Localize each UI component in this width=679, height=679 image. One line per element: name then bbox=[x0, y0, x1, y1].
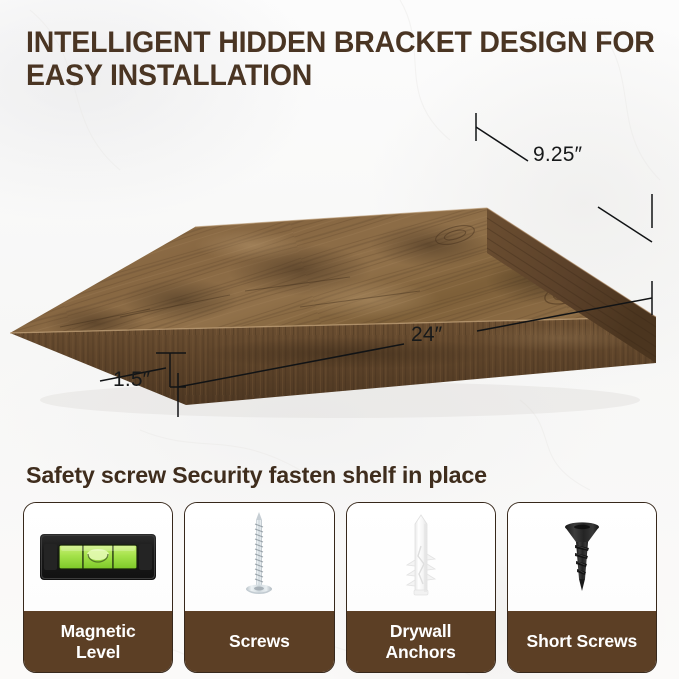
card-label-short-screws: Short Screws bbox=[508, 611, 656, 672]
card-label-line-1: Drywall bbox=[390, 621, 452, 641]
drywall-anchor-icon bbox=[398, 510, 444, 604]
magnetic-level-icon bbox=[38, 526, 158, 588]
card-art bbox=[508, 503, 656, 611]
page-title-line-1: INTELLIGENT HIDDEN BRACKET DESIGN FOR bbox=[26, 26, 644, 59]
card-label-magnetic-level: MagneticLevel bbox=[24, 611, 172, 672]
dimension-label-width: 24″ bbox=[411, 323, 442, 347]
card-label-line-2: Level bbox=[76, 642, 120, 662]
card-label-screws: Screws bbox=[185, 611, 333, 672]
card-label-drywall-anchors: DrywallAnchors bbox=[347, 611, 495, 672]
accessory-card-short-screws[interactable]: Short Screws bbox=[507, 502, 657, 673]
card-label-line-1: Magnetic bbox=[61, 621, 136, 641]
accessory-card-drywall-anchors[interactable]: DrywallAnchors bbox=[346, 502, 496, 673]
page-title-line-2: EASY INSTALLATION bbox=[26, 59, 644, 92]
section-subtitle: Safety screw Security fasten shelf in pl… bbox=[26, 462, 487, 489]
card-art bbox=[347, 503, 495, 611]
page-title: INTELLIGENT HIDDEN BRACKET DESIGN FOR EA… bbox=[26, 26, 666, 92]
accessory-card-magnetic-level[interactable]: MagneticLevel bbox=[23, 502, 173, 673]
card-label-line-2: Anchors bbox=[385, 642, 455, 662]
accessory-card-list: MagneticLevel bbox=[23, 502, 657, 673]
dimension-label-thickness: 1.5″ bbox=[113, 368, 150, 392]
short-screw-icon bbox=[552, 517, 612, 597]
accessory-card-screws[interactable]: Screws bbox=[184, 502, 334, 673]
card-art bbox=[185, 503, 333, 611]
dimension-label-depth: 9.25″ bbox=[533, 143, 582, 167]
long-screw-icon bbox=[236, 510, 282, 604]
card-art bbox=[24, 503, 172, 611]
